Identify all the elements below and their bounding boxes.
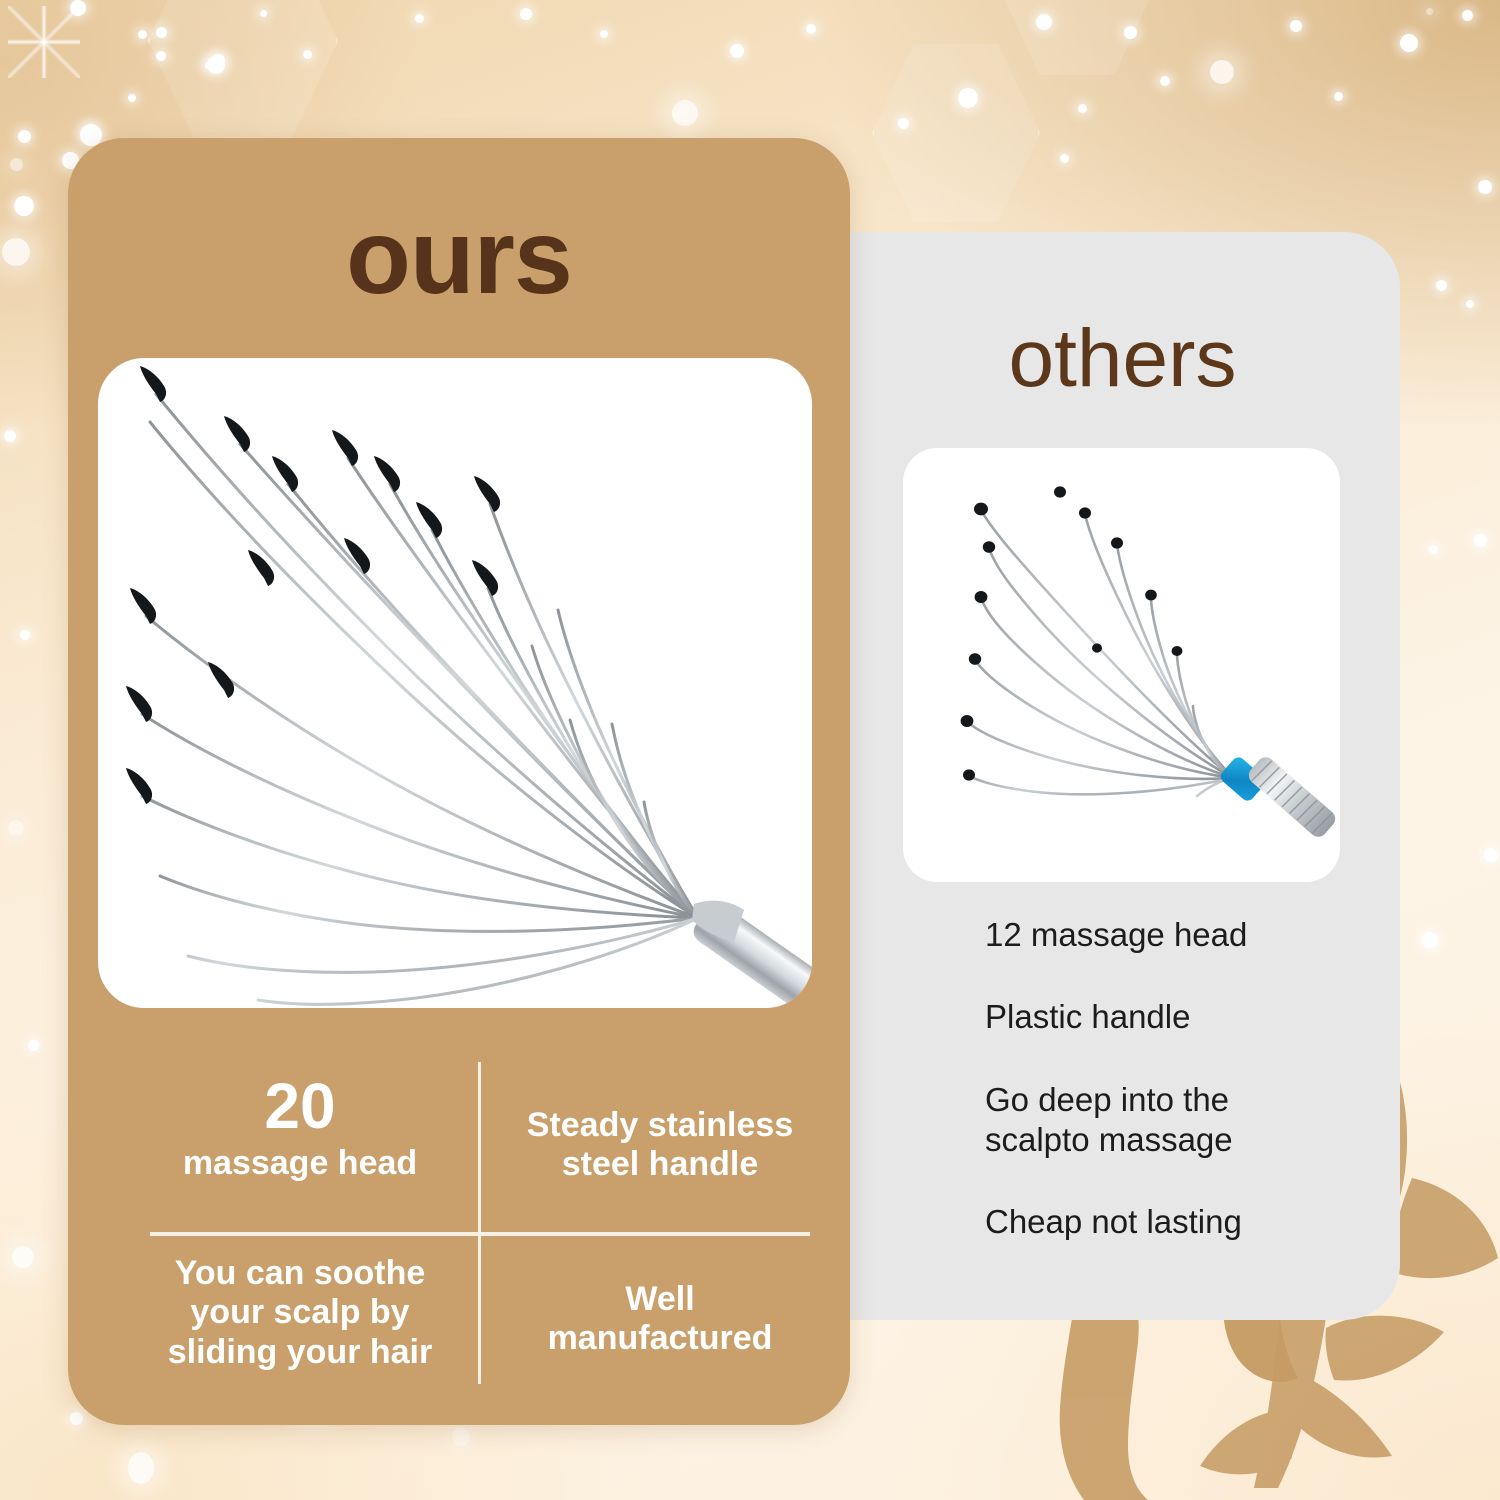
bokeh-dot bbox=[600, 30, 608, 38]
bokeh-dot bbox=[18, 130, 31, 143]
others-product-image bbox=[903, 448, 1340, 882]
list-item: Cheap not lasting bbox=[985, 1202, 1385, 1242]
bokeh-dot bbox=[415, 14, 424, 23]
feature-label: Well manufactured bbox=[510, 1280, 810, 1359]
bokeh-dot bbox=[1210, 60, 1234, 84]
ours-product-image bbox=[98, 358, 812, 1008]
feature-cell-massage-head: 20 massage head bbox=[150, 1074, 450, 1183]
feature-cell-well-manufactured: Well manufactured bbox=[510, 1280, 810, 1359]
bokeh-dot bbox=[20, 630, 30, 640]
ours-title: ours bbox=[68, 204, 850, 310]
bokeh-dot bbox=[4, 430, 16, 442]
bokeh-dot bbox=[303, 50, 312, 59]
bokeh-dot bbox=[1429, 545, 1438, 554]
feature-label: You can soothe your scalp by sliding you… bbox=[150, 1254, 450, 1372]
list-item: Go deep into the scalpto massage bbox=[985, 1080, 1385, 1161]
bokeh-dot bbox=[8, 820, 24, 836]
bokeh-dot bbox=[28, 1040, 39, 1051]
feature-divider-vertical bbox=[478, 1062, 481, 1384]
bokeh-dot bbox=[1474, 534, 1487, 547]
bokeh-dot bbox=[138, 30, 147, 39]
ours-feature-grid: 20 massage head Steady stainless steel h… bbox=[150, 1058, 810, 1388]
bokeh-dot bbox=[1466, 300, 1474, 308]
bokeh-dot bbox=[1334, 92, 1343, 101]
bokeh-dot bbox=[12, 1246, 34, 1268]
bokeh-dot bbox=[1478, 180, 1492, 194]
bokeh-dot bbox=[207, 56, 225, 74]
bokeh-dot bbox=[452, 1428, 470, 1446]
bokeh-dot bbox=[14, 196, 34, 216]
bokeh-dot bbox=[1462, 10, 1473, 21]
bokeh-dot bbox=[520, 8, 532, 20]
feature-cell-soothe-scalp: You can soothe your scalp by sliding you… bbox=[150, 1254, 450, 1372]
bokeh-dot bbox=[156, 27, 167, 38]
bokeh-dot bbox=[2, 238, 30, 266]
bokeh-dot bbox=[1060, 154, 1069, 163]
others-feature-list: 12 massage head Plastic handle Go deep i… bbox=[985, 915, 1385, 1284]
bokeh-dot bbox=[730, 44, 744, 58]
bokeh-dot bbox=[672, 100, 698, 126]
bokeh-dot bbox=[70, 1412, 83, 1425]
bokeh-dot bbox=[1036, 14, 1052, 30]
bokeh-dot bbox=[1160, 76, 1170, 86]
bokeh-dot bbox=[156, 51, 166, 61]
bokeh-dot bbox=[958, 88, 978, 108]
bokeh-dot bbox=[128, 1452, 154, 1484]
feature-label: massage head bbox=[150, 1144, 450, 1183]
feature-divider-horizontal bbox=[150, 1232, 810, 1236]
bokeh-dot bbox=[70, 0, 86, 16]
bokeh-dot bbox=[1078, 104, 1087, 113]
bokeh-dot bbox=[1436, 280, 1447, 291]
bokeh-dot bbox=[898, 118, 909, 129]
bokeh-dot bbox=[1124, 26, 1137, 39]
bokeh-dot bbox=[10, 158, 23, 171]
feature-cell-steel-handle: Steady stainless steel handle bbox=[510, 1106, 810, 1185]
bokeh-dot bbox=[806, 24, 816, 34]
bokeh-dot bbox=[260, 10, 267, 17]
bokeh-dot bbox=[128, 94, 136, 102]
feature-number: 20 bbox=[150, 1074, 450, 1138]
bokeh-dot bbox=[1484, 848, 1498, 862]
bokeh-dot bbox=[1426, 8, 1433, 15]
sparkle-icon bbox=[8, 6, 80, 78]
others-title: others bbox=[845, 318, 1400, 400]
bokeh-dot bbox=[1290, 20, 1302, 32]
feature-label: Steady stainless steel handle bbox=[510, 1106, 810, 1185]
list-item: Plastic handle bbox=[985, 997, 1385, 1037]
bokeh-dot bbox=[1422, 932, 1438, 948]
bokeh-dot bbox=[1400, 34, 1418, 52]
list-item: 12 massage head bbox=[985, 915, 1385, 955]
